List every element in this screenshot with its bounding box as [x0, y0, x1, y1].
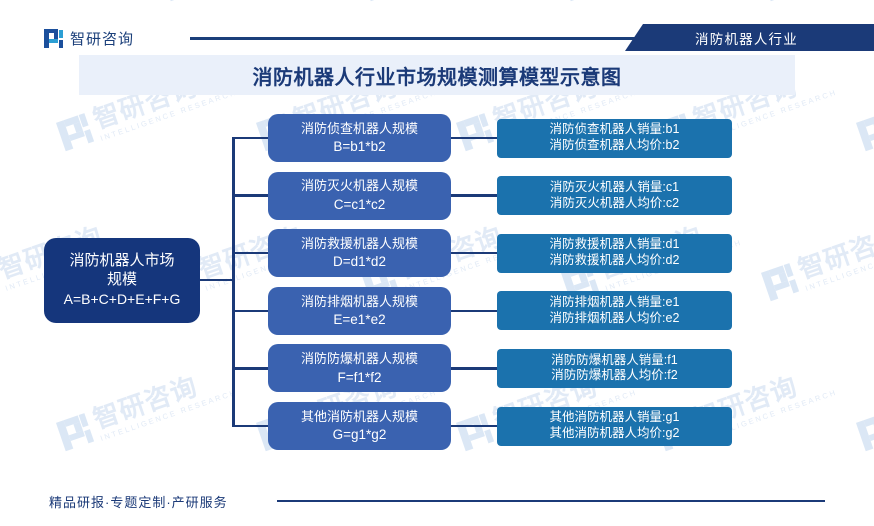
right-node-price-line: 消防排烟机器人均价:e2 — [550, 311, 680, 327]
mid-node-formula: D=d1*d2 — [333, 253, 386, 270]
connector-mid-to-right-4 — [451, 310, 497, 313]
brand-name: 智研咨询 — [70, 28, 134, 49]
right-node[interactable]: 消防侦查机器人销量:b1消防侦查机器人均价:b2 — [497, 119, 732, 158]
connector-spine-to-mid-5 — [232, 367, 268, 370]
mid-node-label: 消防侦查机器人规模 — [301, 121, 418, 137]
mid-node[interactable]: 其他消防机器人规模G=g1*g2 — [268, 402, 451, 450]
right-node-price-line: 消防防爆机器人均价:f2 — [551, 368, 677, 384]
page-footer: 精品研报·专题定制·产研服务 — [0, 486, 874, 526]
footer-tagline: 精品研报·专题定制·产研服务 — [49, 492, 228, 511]
mid-node[interactable]: 消防救援机器人规模D=d1*d2 — [268, 229, 451, 277]
connector-mid-to-right-5 — [451, 367, 497, 370]
right-node[interactable]: 消防排烟机器人销量:e1消防排烟机器人均价:e2 — [497, 291, 732, 330]
connector-spine-to-mid-3 — [232, 252, 268, 255]
root-node-line1: 消防机器人市场 — [69, 252, 174, 271]
connector-spine-to-mid-4 — [232, 310, 268, 313]
mid-node-formula: G=g1*g2 — [333, 426, 387, 443]
connector-spine — [232, 138, 235, 426]
zhiyan-logo-icon — [44, 29, 63, 48]
industry-tag: 消防机器人行业 — [625, 24, 874, 51]
root-node[interactable]: 消防机器人市场 规模 A=B+C+D+E+F+G — [44, 238, 200, 323]
mid-node-formula: C=c1*c2 — [334, 196, 385, 213]
connector-mid-to-right-1 — [451, 137, 497, 140]
page-header: 智研咨询 消防机器人行业 — [0, 0, 874, 54]
right-node-price-line: 消防救援机器人均价:d2 — [550, 253, 680, 269]
root-node-formula: A=B+C+D+E+F+G — [64, 291, 181, 309]
brand: 智研咨询 — [44, 28, 134, 49]
mid-node[interactable]: 消防排烟机器人规模E=e1*e2 — [268, 287, 451, 335]
mid-node-label: 消防救援机器人规模 — [301, 236, 418, 252]
right-node-price-line: 消防灭火机器人均价:c2 — [550, 196, 679, 212]
mid-node-formula: F=f1*f2 — [338, 369, 382, 386]
mid-node[interactable]: 消防灭火机器人规模C=c1*c2 — [268, 172, 451, 220]
header-divider — [190, 37, 640, 40]
connector-spine-to-mid-2 — [232, 194, 268, 197]
mid-node[interactable]: 消防防爆机器人规模F=f1*f2 — [268, 344, 451, 392]
right-node-price-line: 消防侦查机器人均价:b2 — [550, 138, 680, 154]
right-node[interactable]: 其他消防机器人销量:g1其他消防机器人均价:g2 — [497, 407, 732, 446]
mid-node-label: 消防排烟机器人规模 — [301, 294, 418, 310]
right-node-price-line: 其他消防机器人均价:g2 — [550, 426, 680, 442]
right-node-sales-line: 消防排烟机器人销量:e1 — [550, 295, 680, 311]
right-node-sales-line: 消防灭火机器人销量:c1 — [550, 180, 679, 196]
slide-page: 智研咨询INTELLIGENCE RESEARCH智研咨询INTELLIGENC… — [0, 0, 874, 526]
connector-mid-to-right-6 — [451, 425, 497, 428]
mid-node-label: 其他消防机器人规模 — [301, 409, 418, 425]
root-node-line2: 规模 — [107, 271, 137, 290]
right-node-sales-line: 消防防爆机器人销量:f1 — [551, 353, 677, 369]
mid-node-formula: E=e1*e2 — [333, 311, 385, 328]
mid-node[interactable]: 消防侦查机器人规模B=b1*b2 — [268, 114, 451, 162]
diagram-canvas: 消防机器人市场 规模 A=B+C+D+E+F+G 消防侦查机器人规模B=b1*b… — [0, 0, 874, 526]
right-node[interactable]: 消防灭火机器人销量:c1消防灭火机器人均价:c2 — [497, 176, 732, 215]
footer-divider — [277, 500, 825, 502]
right-node-sales-line: 消防侦查机器人销量:b1 — [550, 122, 680, 138]
mid-node-label: 消防灭火机器人规模 — [301, 178, 418, 194]
right-node-sales-line: 消防救援机器人销量:d1 — [550, 237, 680, 253]
connector-mid-to-right-3 — [451, 252, 497, 255]
connector-spine-to-mid-6 — [232, 425, 268, 428]
connector-spine-to-mid-1 — [232, 137, 268, 140]
right-node[interactable]: 消防防爆机器人销量:f1消防防爆机器人均价:f2 — [497, 349, 732, 388]
mid-node-label: 消防防爆机器人规模 — [301, 351, 418, 367]
mid-node-formula: B=b1*b2 — [333, 138, 385, 155]
right-node-sales-line: 其他消防机器人销量:g1 — [550, 410, 680, 426]
connector-mid-to-right-2 — [451, 194, 497, 197]
connector-root-stub — [200, 279, 235, 282]
right-node[interactable]: 消防救援机器人销量:d1消防救援机器人均价:d2 — [497, 234, 732, 273]
